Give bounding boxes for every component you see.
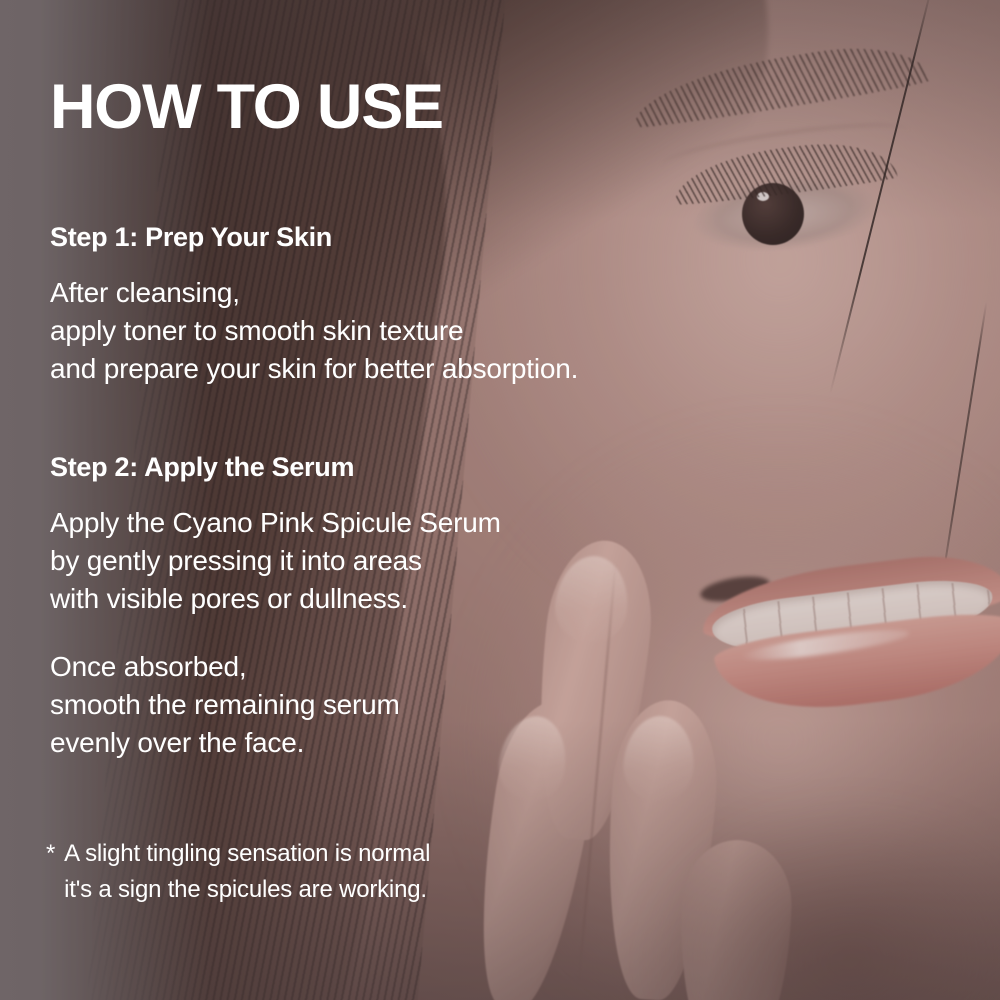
how-to-use-panel: HOW TO USE Step 1: Prep Your Skin After … xyxy=(0,0,1000,1000)
footnote-line-2: it's a sign the spicules are working. xyxy=(64,872,430,908)
step-1-line-2: apply toner to smooth skin texture xyxy=(50,312,578,350)
footnote-text: A slight tingling sensation is normal it… xyxy=(64,836,430,908)
step-block-2: Step 2: Apply the Serum Apply the Cyano … xyxy=(50,452,501,762)
step-1-line-3: and prepare your skin for better absorpt… xyxy=(50,350,578,388)
step-2-line-1: Apply the Cyano Pink Spicule Serum xyxy=(50,504,501,542)
step-1-line-1: After cleansing, xyxy=(50,274,578,312)
step-2-line-2: by gently pressing it into areas xyxy=(50,542,501,580)
step-2-line-3: with visible pores or dullness. xyxy=(50,580,501,618)
step-2-paragraph-1: Apply the Cyano Pink Spicule Serum by ge… xyxy=(50,504,501,618)
step-1-heading: Step 1: Prep Your Skin xyxy=(50,222,578,254)
footnote: * A slight tingling sensation is normal … xyxy=(46,836,430,908)
step-1-paragraph-1: After cleansing, apply toner to smooth s… xyxy=(50,274,578,388)
step-block-1: Step 1: Prep Your Skin After cleansing, … xyxy=(50,222,578,388)
footnote-asterisk: * xyxy=(46,836,55,908)
step-2-heading: Step 2: Apply the Serum xyxy=(50,452,501,484)
footnote-line-1: A slight tingling sensation is normal xyxy=(64,836,430,872)
instruction-content: HOW TO USE Step 1: Prep Your Skin After … xyxy=(0,0,1000,1000)
step-2-line-5: smooth the remaining serum xyxy=(50,686,501,724)
step-2-line-4: Once absorbed, xyxy=(50,648,501,686)
step-2-line-6: evenly over the face. xyxy=(50,724,501,762)
step-2-paragraph-2: Once absorbed, smooth the remaining seru… xyxy=(50,648,501,762)
page-title: HOW TO USE xyxy=(50,76,443,139)
